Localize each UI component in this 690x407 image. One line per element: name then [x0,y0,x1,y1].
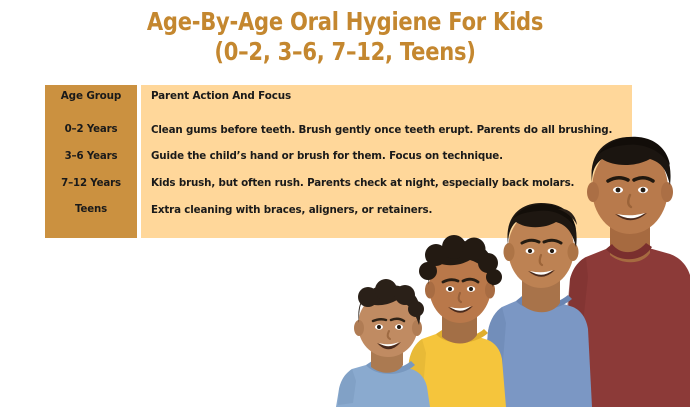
column-spacer [141,107,632,116]
table-header-parent-action: Parent Action And Focus [141,85,632,107]
column-spacer [45,107,137,116]
page-title-line-1: Age-By-Age Oral Hygiene For Kids [48,8,641,35]
subject-toddler [336,279,430,407]
table-header-age-group: Age Group [45,85,137,107]
table-cell-age-group-2: 7–12 Years [45,170,137,197]
table-cell-parent-action-1: Guide the child’s hand or brush for them… [141,143,632,170]
table-column-age-group: Age Group 0–2 Years 3–6 Years 7–12 Years… [45,85,137,238]
table-cell-parent-action-2: Kids brush, but often rush. Parents chec… [141,170,632,197]
page-title: Age-By-Age Oral Hygiene For Kids (0–2, 3… [0,8,690,66]
age-guidance-table: Age Group 0–2 Years 3–6 Years 7–12 Years… [45,85,632,238]
subject-young-boy [405,235,506,407]
table-cell-parent-action-3: Extra cleaning with braces, aligners, or… [141,197,632,224]
table-cell-age-group-3: Teens [45,197,137,224]
column-spacer [141,223,632,238]
page-title-line-2: (0–2, 3–6, 7–12, Teens) [48,38,641,65]
table-cell-parent-action-0: Clean gums before teeth. Brush gently on… [141,116,632,143]
table-column-parent-action: Parent Action And Focus Clean gums befor… [141,85,632,238]
column-spacer [45,223,137,238]
table-cell-age-group-0: 0–2 Years [45,116,137,143]
infographic-root: Age-By-Age Oral Hygiene For Kids (0–2, 3… [0,0,690,407]
table-cell-age-group-1: 3–6 Years [45,143,137,170]
